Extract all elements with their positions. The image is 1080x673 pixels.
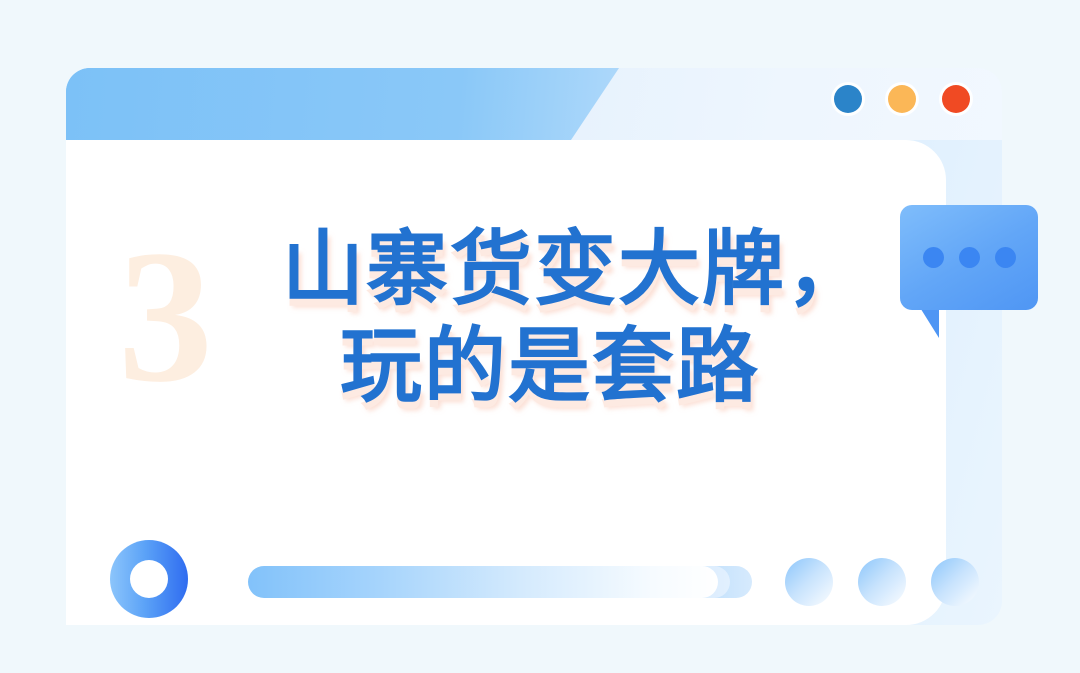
close-button[interactable] [942,85,970,113]
minimize-button[interactable] [834,85,862,113]
ellipsis-dot-1 [923,247,944,268]
progress-bar-primary[interactable] [248,566,718,598]
maximize-button[interactable] [888,85,916,113]
ring-loader-icon[interactable] [110,540,188,618]
toolbar-circle-1[interactable] [785,558,833,606]
ellipsis-dot-2 [959,247,980,268]
headline-line-2: 玩的是套路 [268,319,868,416]
headline-block: 山寨货变大牌， 玩的是套路 [268,222,868,416]
slide-number-watermark: 3 [118,222,209,412]
ring-loader-hole [130,560,168,598]
window-controls [834,85,970,113]
ellipsis-dot-3 [995,247,1016,268]
chat-bubble-tail [907,306,939,338]
toolbar-circle-2[interactable] [858,558,906,606]
headline-line-1: 山寨货变大牌， [268,222,868,319]
toolbar-circle-group [785,558,979,606]
chat-bubble-ellipsis [900,205,1038,310]
chat-bubble-icon [900,205,1040,350]
slide-canvas: 3 山寨货变大牌， 玩的是套路 [0,0,1080,673]
toolbar-circle-3[interactable] [931,558,979,606]
